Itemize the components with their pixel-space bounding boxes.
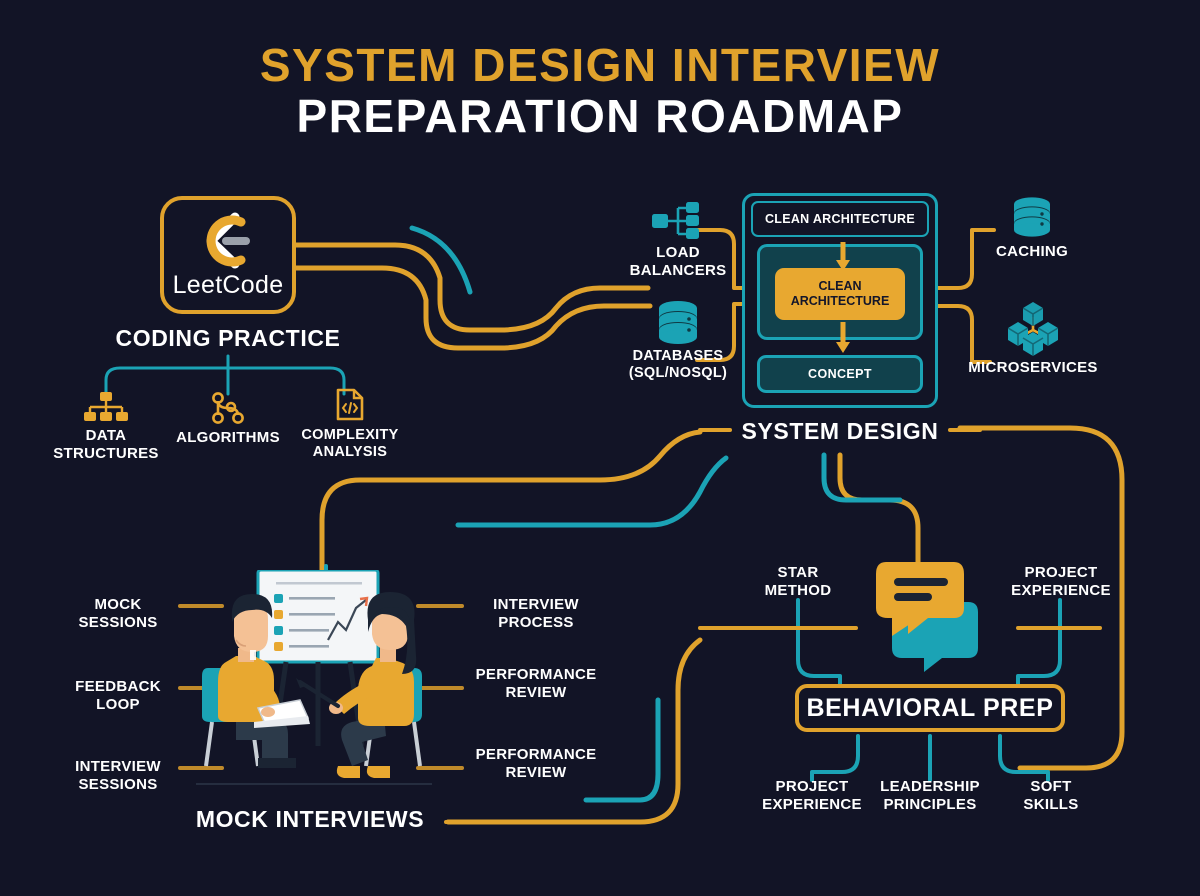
wire-project-experience-top (1018, 600, 1060, 686)
speech-bubbles-illustration (872, 560, 1004, 678)
mock-left-2-l1: FEEDBACK (62, 678, 174, 696)
label-load-balancers-l2: BALANCERS (618, 262, 738, 280)
wire-behavioral-bottom-1 (812, 736, 858, 780)
wire-system-to-behavioral (840, 455, 918, 568)
code-file-icon (335, 388, 365, 422)
behavioral-prep-title: BEHAVIORAL PREP (806, 694, 1053, 723)
wire-system-to-mock-accent (458, 458, 726, 525)
wire-star-method (798, 600, 840, 686)
title-line-2: PREPARATION ROADMAP (0, 90, 1200, 142)
label-data-structures-l2: STRUCTURES (46, 445, 166, 463)
mock-left-label-2[interactable]: FEEDBACK LOOP (62, 678, 174, 714)
mock-interviews-title: MOCK INTERVIEWS (130, 806, 490, 833)
diagram-internal-arrows (745, 196, 941, 411)
database-icon (655, 300, 701, 344)
behav-b3-l1: SOFT (996, 778, 1106, 796)
mock-left-label-3[interactable]: INTERVIEW SESSIONS (62, 758, 174, 794)
subitem-data-structures[interactable]: DATA STRUCTURES (46, 392, 166, 463)
item-databases[interactable]: DATABASES (SQL/NOSQL) (618, 300, 738, 382)
mock-left-2-l2: LOOP (62, 696, 174, 714)
proj-exp-top-l1: PROJECT (1000, 564, 1122, 582)
item-caching[interactable]: CACHING (972, 196, 1092, 261)
wire-accent-teal-top (412, 228, 470, 292)
mock-right-label-3[interactable]: PERFORMANCE REVIEW (466, 746, 606, 782)
infographic-canvas: SYSTEM DESIGN INTERVIEW PREPARATION ROAD… (0, 0, 1200, 896)
leetcode-wordmark: LeetCode (173, 271, 284, 300)
subitem-algorithms[interactable]: ALGORITHMS (168, 392, 288, 447)
label-microservices: MICROSERVICES (968, 359, 1098, 377)
subitem-complexity-analysis[interactable]: COMPLEXITY ANALYSIS (290, 388, 410, 461)
mock-right-3-l2: REVIEW (466, 764, 606, 782)
label-data-structures-l1: DATA (46, 427, 166, 445)
graph-nodes-icon (208, 392, 248, 424)
label-load-balancers-l1: LOAD (618, 244, 738, 262)
page-title: SYSTEM DESIGN INTERVIEW PREPARATION ROAD… (0, 40, 1200, 142)
proj-exp-top-l2: EXPERIENCE (1000, 582, 1122, 600)
mock-right-1-l1: INTERVIEW (466, 596, 606, 614)
mock-interview-illustration (196, 570, 432, 805)
title-line-1: SYSTEM DESIGN INTERVIEW (0, 40, 1200, 90)
mock-right-label-1[interactable]: INTERVIEW PROCESS (466, 596, 606, 632)
wire-coding-to-system-a (296, 245, 648, 330)
label-complexity-l2: ANALYSIS (290, 444, 410, 461)
microservices-cubes-icon (1002, 300, 1064, 356)
wire-behavioral-bottom-3 (1000, 736, 1048, 780)
leetcode-card[interactable]: LeetCode (160, 196, 296, 314)
wire-system-to-behavioral-accent (824, 455, 900, 500)
behavioral-bottom-1[interactable]: PROJECT EXPERIENCE (752, 778, 872, 814)
behav-b3-l2: SKILLS (996, 796, 1106, 814)
mock-right-3-l1: PERFORMANCE (466, 746, 606, 764)
label-complexity-l1: COMPLEXITY (290, 427, 410, 444)
behavioral-bottom-2[interactable]: LEADERSHIP PRINCIPLES (870, 778, 990, 814)
mock-left-1-l1: MOCK (62, 596, 174, 614)
label-databases-l1: DATABASES (618, 348, 738, 365)
label-databases-l2: (SQL/NOSQL) (618, 365, 738, 382)
system-design-title: SYSTEM DESIGN (690, 418, 990, 445)
cache-database-icon (1009, 196, 1055, 238)
mock-left-3-l1: INTERVIEW (62, 758, 174, 776)
hierarchy-icon (84, 392, 128, 422)
behavioral-prep-pill[interactable]: BEHAVIORAL PREP (795, 684, 1065, 732)
mock-left-label-1[interactable]: MOCK SESSIONS (62, 596, 174, 632)
behav-b1-l2: EXPERIENCE (752, 796, 872, 814)
star-method-l2: METHOD (740, 582, 856, 600)
mock-right-label-2[interactable]: PERFORMANCE REVIEW (466, 666, 606, 702)
behav-b1-l1: PROJECT (752, 778, 872, 796)
behav-b2-l2: PRINCIPLES (870, 796, 990, 814)
mock-right-2-l2: REVIEW (466, 684, 606, 702)
load-balancer-icon (652, 202, 704, 240)
item-microservices[interactable]: MICROSERVICES (968, 300, 1098, 377)
leetcode-logo-icon (195, 211, 261, 269)
behavioral-star-method[interactable]: STAR METHOD (740, 564, 856, 600)
behavioral-bottom-3[interactable]: SOFT SKILLS (996, 778, 1106, 814)
item-load-balancers[interactable]: LOAD BALANCERS (618, 202, 738, 280)
mock-right-2-l1: PERFORMANCE (466, 666, 606, 684)
mock-left-3-l2: SESSIONS (62, 776, 174, 794)
mock-right-1-l2: PROCESS (466, 614, 606, 632)
behav-b2-l1: LEADERSHIP (870, 778, 990, 796)
mock-left-1-l2: SESSIONS (62, 614, 174, 632)
coding-practice-title: CODING PRACTICE (0, 325, 456, 352)
label-algorithms-l1: ALGORITHMS (168, 429, 288, 447)
label-caching: CACHING (972, 243, 1092, 261)
system-design-diagram[interactable]: CLEAN ARCHITECTURE CLEAN ARCHITECTURE CO… (742, 193, 938, 408)
star-method-l1: STAR (740, 564, 856, 582)
behavioral-project-experience-top[interactable]: PROJECT EXPERIENCE (1000, 564, 1122, 600)
